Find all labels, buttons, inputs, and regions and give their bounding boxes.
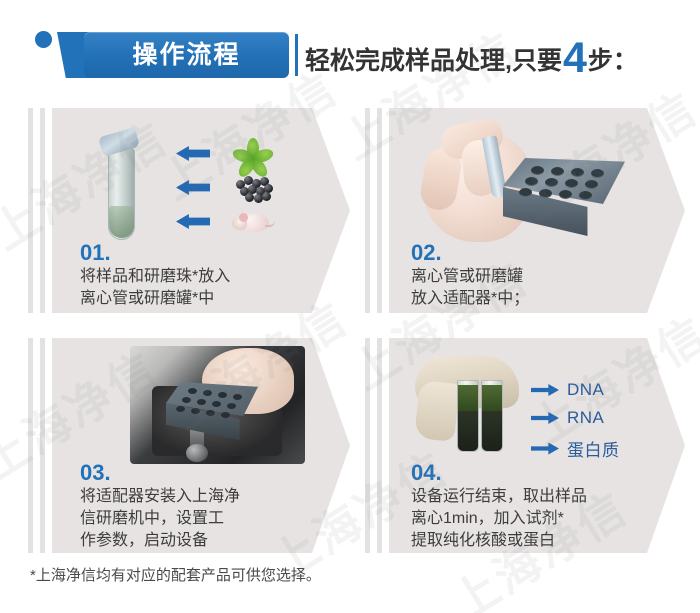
step-card-01: 01. 将样品和研磨珠*放入 离心管或研磨罐*中 — [28, 108, 350, 313]
banner-dot-icon — [35, 31, 52, 48]
output-arrow-icon — [531, 443, 559, 455]
sample-vial-icon — [481, 380, 503, 452]
banner-title: 操作流程 — [84, 32, 289, 78]
adapter-block-icon — [166, 382, 258, 440]
input-arrow-1 — [176, 146, 210, 161]
tagline-before: 轻松完成样品处理,只要 — [305, 41, 562, 77]
step-03-illustration — [130, 346, 305, 464]
step-card-04: DNA RNA 蛋白质 04. 设备运行结束，取出样品 离心1min，加入试剂*… — [365, 338, 685, 553]
output-row-rna: RNA — [531, 408, 604, 428]
step-text-02: 离心管或研磨罐 放入适配器*中； — [411, 266, 661, 310]
card-body: 01. 将样品和研磨珠*放入 离心管或研磨罐*中 — [52, 108, 350, 313]
tagline-after: 步： — [588, 41, 638, 77]
card-accent-bar — [365, 338, 370, 553]
adapter-block-icon — [503, 158, 625, 236]
card-accent-bar — [40, 338, 45, 553]
input-arrow-3 — [176, 214, 210, 229]
output-label-protein: 蛋白质 — [567, 436, 620, 461]
sample-vial-icon — [457, 380, 479, 452]
step-card-03: 03. 将适配器安装入上海净 信研磨机中，设置工 作参数，启动设备 — [28, 338, 350, 553]
step-01-illustration — [64, 114, 326, 246]
lab-mouse-icon — [232, 208, 274, 236]
grinding-beads-icon — [234, 172, 274, 198]
step-card-02: 02. 离心管或研磨罐 放入适配器*中； — [365, 108, 685, 313]
step-text-01: 将样品和研磨珠*放入 离心管或研磨罐*中 — [80, 266, 330, 310]
header-tagline: 轻松完成样品处理,只要 4 步： — [305, 34, 638, 78]
header: 操作流程 轻松完成样品处理,只要 4 步： — [0, 0, 700, 100]
section-banner: 操作流程 — [57, 32, 289, 78]
centrifuge-tube-icon — [102, 132, 142, 242]
output-label-rna: RNA — [567, 408, 604, 428]
card-body: 02. 离心管或研磨罐 放入适配器*中； — [389, 108, 685, 313]
output-label-dna: DNA — [567, 380, 604, 400]
output-arrow-icon — [531, 412, 559, 424]
plant-leaf-icon — [236, 136, 270, 166]
output-arrow-icon — [531, 384, 559, 396]
card-body: DNA RNA 蛋白质 04. 设备运行结束，取出样品 离心1min，加入试剂*… — [389, 338, 685, 553]
step-number-03: 03. — [80, 460, 111, 486]
step-text-04: 设备运行结束，取出样品 离心1min，加入试剂* 提取纯化核酸或蛋白 — [411, 486, 673, 552]
header-divider — [295, 34, 298, 76]
tagline-step-count: 4 — [562, 37, 588, 80]
step-number-04: 04. — [411, 460, 442, 486]
banner-body: 操作流程 — [84, 32, 289, 78]
step-number-01: 01. — [80, 240, 111, 266]
card-accent-bar — [28, 108, 33, 313]
output-row-protein: 蛋白质 — [531, 436, 620, 461]
card-body: 03. 将适配器安装入上海净 信研磨机中，设置工 作参数，启动设备 — [52, 338, 350, 553]
card-accent-bar — [377, 108, 382, 313]
output-row-dna: DNA — [531, 380, 604, 400]
step-04-illustration — [415, 356, 545, 464]
step-number-02: 02. — [411, 240, 442, 266]
card-accent-bar — [28, 338, 33, 553]
footer-note: *上海净信均有对应的配套产品可供您选择。 — [30, 564, 321, 585]
card-accent-bar — [365, 108, 370, 313]
card-accent-bar — [40, 108, 45, 313]
step-text-03: 将适配器安装入上海净 信研磨机中，设置工 作参数，启动设备 — [80, 486, 330, 552]
input-arrow-2 — [176, 180, 210, 195]
step-02-illustration — [419, 120, 634, 245]
card-accent-bar — [377, 338, 382, 553]
